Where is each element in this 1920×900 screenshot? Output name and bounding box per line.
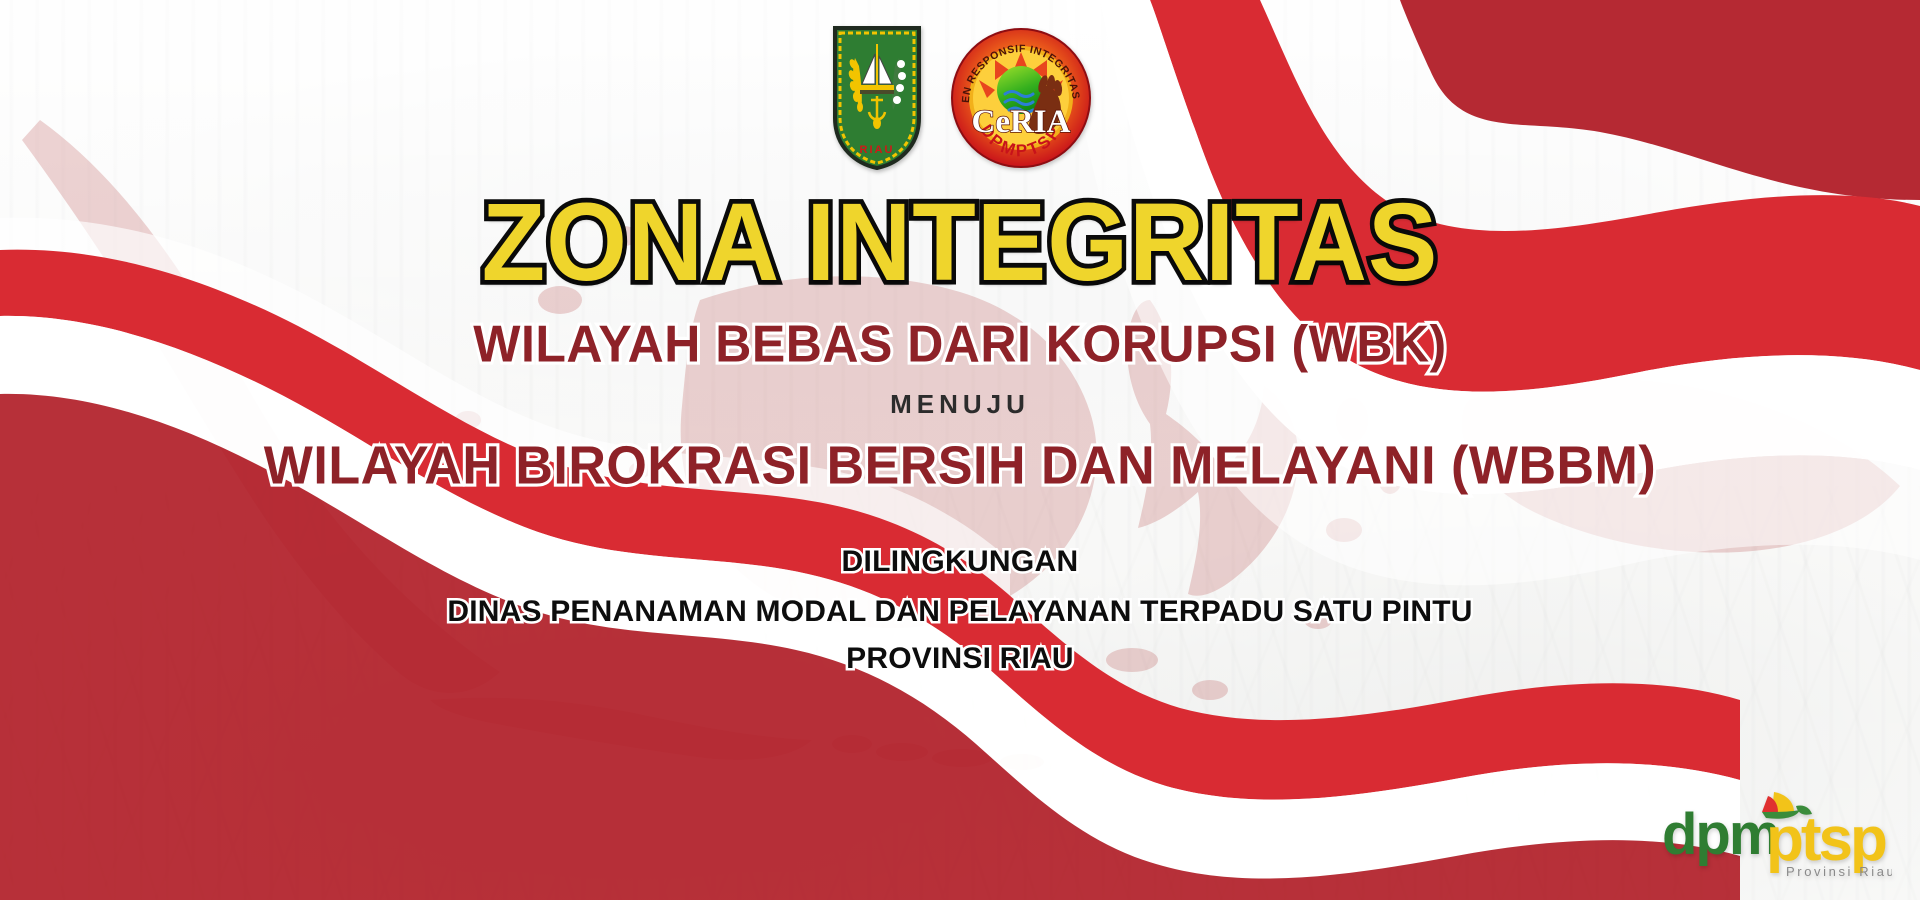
ceria-dpmptsp-seal-icon: CEPAT EFISIEN RESPONSIF INTEGRITAS AKUNT… bbox=[951, 28, 1091, 168]
footer-line-3: PROVINSI RIAU bbox=[0, 640, 1920, 678]
banner-content: ZONA INTEGRITAS WILAYAH BEBAS DARI KORUP… bbox=[0, 190, 1920, 678]
page-title: ZONA INTEGRITAS bbox=[0, 187, 1920, 299]
footer-line-2: DINAS PENANAMAN MODAL DAN PELAYANAN TERP… bbox=[0, 593, 1920, 631]
crest-label: RIAU bbox=[860, 144, 895, 156]
footer-line-1: DILINGKUNGAN bbox=[0, 543, 1920, 581]
zona-integritas-banner: RIAU bbox=[0, 0, 1920, 900]
subtitle-wbbm: WILAYAH BIROKRASI BERSIH DAN MELAYANI (W… bbox=[0, 437, 1920, 494]
dpm-wordmark-part1: dpm bbox=[1662, 802, 1778, 867]
logo-row: RIAU bbox=[0, 22, 1920, 172]
dpm-wordmark-tagline: Provinsi Riau bbox=[1786, 864, 1892, 879]
riau-provincial-crest-icon: RIAU bbox=[829, 22, 925, 172]
connector-label: MENUJU bbox=[0, 391, 1920, 417]
ceria-center-text: CeRIA bbox=[972, 104, 1071, 140]
subtitle-wbk: WILAYAH BEBAS DARI KORUPSI (WBK) bbox=[0, 317, 1920, 372]
dpmptsp-wordmark-icon: dpm ptsp Provinsi Riau bbox=[1660, 786, 1892, 882]
footer-block: DILINGKUNGAN DINAS PENANAMAN MODAL DAN P… bbox=[0, 543, 1920, 678]
